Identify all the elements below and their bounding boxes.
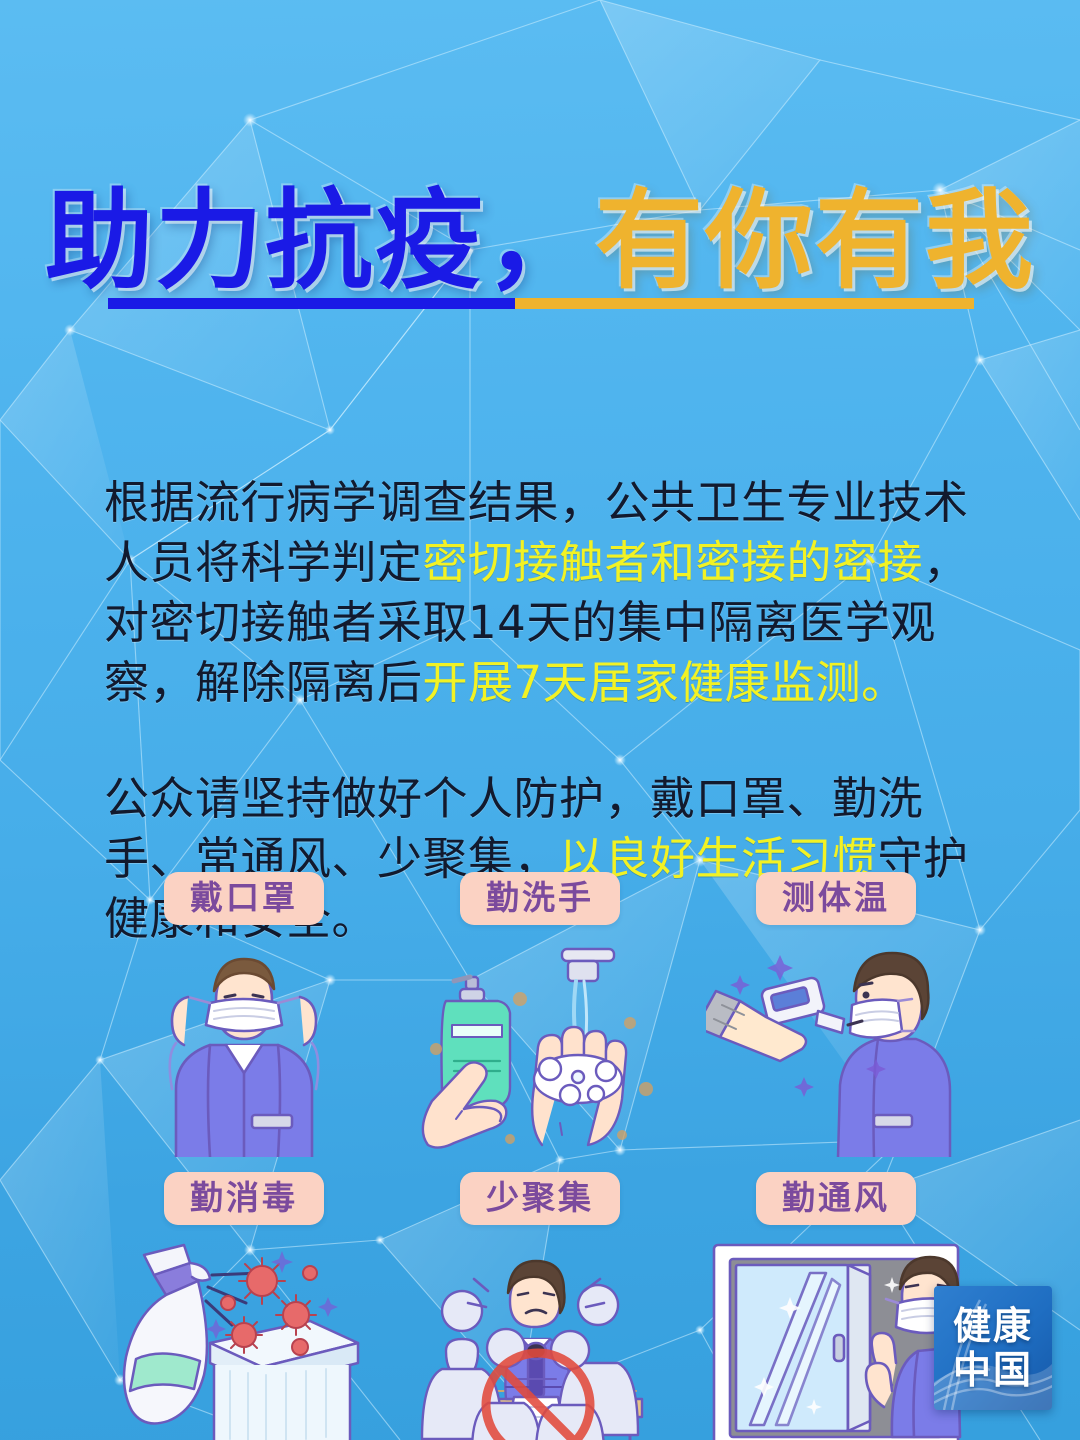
avoid-gathering-illustration: [410, 1239, 670, 1440]
tip-avoid-gathering: 少聚集: [392, 1172, 688, 1440]
logo-line-2: 中国: [953, 1348, 1033, 1392]
title-part-two: 有你有我: [595, 188, 1035, 296]
wear-mask-illustration: [114, 939, 374, 1157]
highlighted-text: 密切接触者和密接的密接: [423, 536, 924, 589]
logo-text: 健康 中国: [934, 1286, 1052, 1410]
highlighted-text: 开展7天居家健康监测。: [423, 656, 907, 709]
title-underline: [108, 298, 974, 309]
title-part-one: 助力抗疫，: [45, 188, 595, 296]
logo-line-1: 健康: [953, 1304, 1033, 1348]
prevention-tips-grid: 戴口罩: [96, 872, 984, 1440]
tip-disinfect: 勤消毒: [96, 1172, 392, 1440]
tip-wash-hands: 勤洗手: [392, 872, 688, 1172]
poster-title: 助力抗疫，有你有我: [0, 188, 1080, 296]
tip-label-take-temperature: 测体温: [756, 872, 916, 925]
disinfect-illustration: [114, 1239, 374, 1440]
tip-wear-mask: 戴口罩: [96, 872, 392, 1172]
paragraph-1: 根据流行病学调查结果，公共卫生专业技术人员将科学判定密切接触者和密接的密接，对密…: [104, 473, 994, 713]
tip-label-wear-mask: 戴口罩: [164, 872, 324, 925]
tip-label-disinfect: 勤消毒: [164, 1172, 324, 1225]
take-temperature-illustration: [706, 939, 966, 1157]
wash-hands-illustration: [410, 939, 670, 1157]
title-underline-blue: [108, 298, 515, 309]
health-poster: 助力抗疫，有你有我 根据流行病学调查结果，公共卫生专业技术人员将科学判定密切接触…: [0, 0, 1080, 1440]
healthy-china-logo: 健康 中国: [934, 1286, 1052, 1410]
tip-label-wash-hands: 勤洗手: [460, 872, 620, 925]
title-underline-gold: [515, 298, 974, 309]
ventilate-illustration: [706, 1239, 966, 1440]
tip-label-avoid-gathering: 少聚集: [460, 1172, 620, 1225]
tip-label-ventilate: 勤通风: [756, 1172, 916, 1225]
tip-take-temperature: 测体温: [688, 872, 984, 1172]
